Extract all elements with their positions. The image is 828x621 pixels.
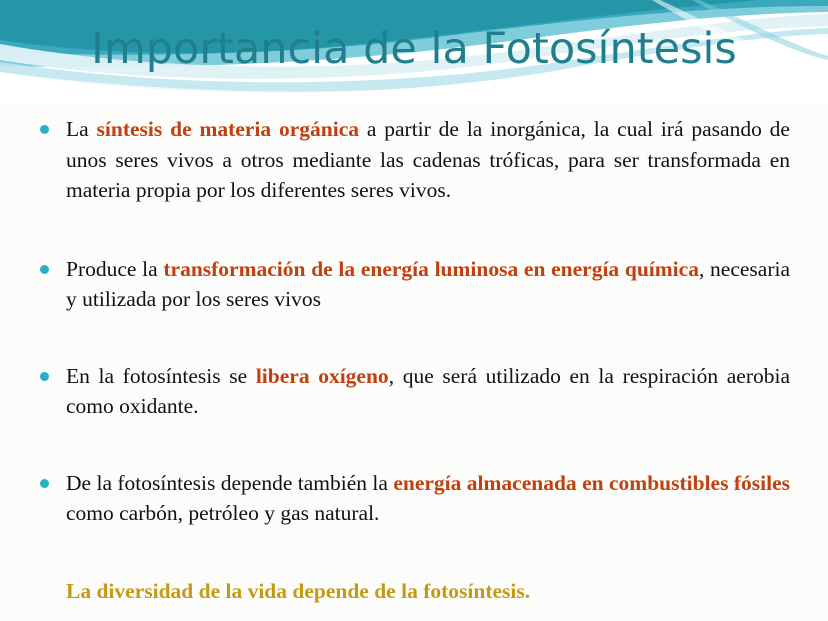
- bullet-2-segment-2-highlight: transformación de la energía luminosa en…: [163, 257, 699, 281]
- bullet-2-segment-1: Produce la: [66, 257, 163, 281]
- bullet-dot-icon: [40, 479, 49, 488]
- slide-body: La síntesis de materia orgánica a partir…: [0, 108, 828, 621]
- bullet-dot-icon: [40, 372, 49, 381]
- bullet-1-segment-1: La: [66, 117, 97, 141]
- bullet-text-1: La síntesis de materia orgánica a partir…: [66, 114, 790, 206]
- bullet-4-segment-3: como carbón, petróleo y gas natural.: [66, 501, 379, 525]
- bullet-1-segment-2-highlight: síntesis de materia orgánica: [97, 117, 359, 141]
- bullet-item-3: En la fotosíntesis se libera oxígeno, qu…: [0, 361, 828, 422]
- page-title: Importancia de la Fotosíntesis: [0, 26, 828, 73]
- closing-statement: La diversidad de la vida depende de la f…: [0, 579, 828, 604]
- bullet-4-segment-2-highlight: energía almacenada en combustibles fósil…: [393, 471, 790, 495]
- bullet-dot-icon: [40, 265, 49, 274]
- bullet-item-4: De la fotosíntesis depende también la en…: [0, 468, 828, 529]
- bullet-dot-icon: [40, 125, 49, 134]
- bullet-item-2: Produce la transformación de la energía …: [0, 254, 828, 315]
- bullet-text-4: De la fotosíntesis depende también la en…: [66, 468, 790, 529]
- bullet-text-3: En la fotosíntesis se libera oxígeno, qu…: [66, 361, 790, 422]
- bullet-3-segment-1: En la fotosíntesis se: [66, 364, 256, 388]
- slide: Importancia de la Fotosíntesis La síntes…: [0, 0, 828, 621]
- bullet-text-2: Produce la transformación de la energía …: [66, 254, 790, 315]
- bullet-3-segment-2-highlight: libera oxígeno: [256, 364, 389, 388]
- bullet-4-segment-1: De la fotosíntesis depende también la: [66, 471, 393, 495]
- bullet-item-1: La síntesis de materia orgánica a partir…: [0, 114, 828, 206]
